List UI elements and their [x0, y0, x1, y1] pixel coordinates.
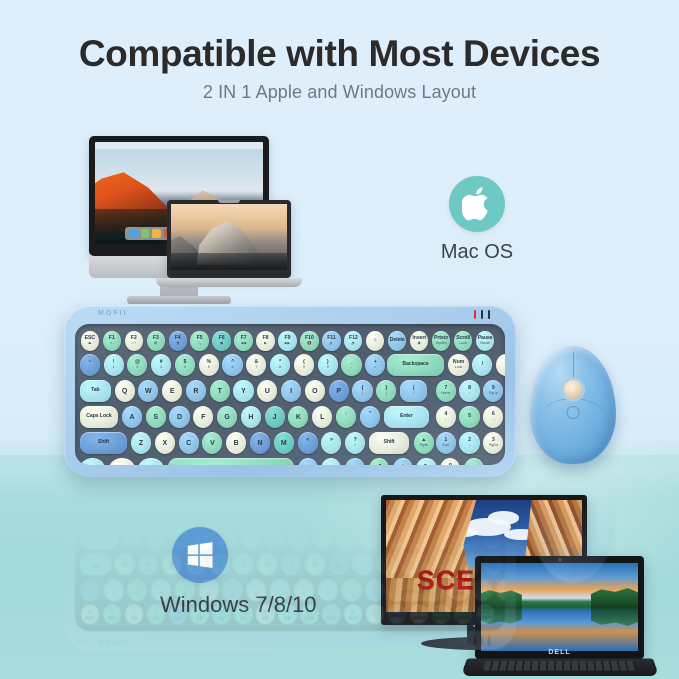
key-sublegend: ◨ — [176, 342, 179, 346]
key-sublegend: 🔊 — [351, 342, 355, 346]
key-space[interactable]: @2 — [127, 354, 147, 376]
key-legend: D — [177, 414, 182, 421]
key-space[interactable]: *8 — [270, 354, 290, 376]
key-v[interactable]: V — [202, 432, 222, 454]
key-space[interactable]: ?/ — [345, 432, 365, 454]
key-j[interactable]: J — [265, 406, 285, 428]
key-enter[interactable]: Enter — [384, 406, 430, 428]
key-f3[interactable]: F3▤ — [147, 331, 165, 351]
key-space[interactable]: }] — [376, 380, 396, 402]
key-r[interactable]: R — [186, 380, 206, 402]
key-legend: 5 — [468, 414, 471, 419]
wireless-keyboard: MOFII ESC⏏F1☼-F2☼+F3▤F4◨F5🔍F6◼F7◀◀F8▶F9▶… — [64, 305, 516, 477]
key-sublegend: \ — [413, 392, 414, 396]
key-legend: H — [248, 414, 253, 421]
key-sublegend: 2 — [136, 366, 138, 370]
key-space[interactable]: += — [365, 354, 385, 376]
key-f12[interactable]: F12🔊 — [344, 331, 362, 351]
key-space[interactable]: !1 — [104, 354, 124, 376]
key-f9[interactable]: F9▶▶ — [278, 331, 296, 351]
key-legend: E — [170, 388, 175, 395]
key-legend: U — [265, 388, 270, 395]
key-sublegend: ▶▶ — [285, 342, 291, 346]
key-legend: ◀ — [377, 464, 381, 465]
key-space[interactable]: ~` — [80, 354, 100, 376]
key-caps-lock[interactable]: Caps Lock — [80, 406, 118, 428]
key-s[interactable]: S — [146, 406, 166, 428]
key-space[interactable] — [168, 458, 294, 465]
key-sublegend: , — [307, 444, 308, 448]
key-sublegend: Lock — [459, 342, 467, 346]
key-legend: P — [336, 388, 341, 395]
key-fn[interactable]: Fn — [321, 458, 341, 465]
key-ctrl[interactable]: Ctrl — [80, 458, 106, 465]
key-9[interactable]: 9PgUp — [483, 380, 503, 402]
key-legend: M — [281, 440, 287, 447]
key-space[interactable]: ⎙ — [366, 331, 384, 351]
windows-icon — [185, 540, 215, 570]
key-legend: G — [224, 414, 229, 421]
key-sublegend: 9 — [303, 366, 305, 370]
wireless-mouse — [530, 346, 616, 464]
key-f7[interactable]: F7◀◀ — [234, 331, 252, 351]
key-space[interactable]: $4 — [175, 354, 195, 376]
key-sublegend: . — [331, 444, 332, 448]
keyboard-led-indicators — [474, 310, 490, 319]
key-sublegend: ' — [369, 418, 370, 422]
key-u[interactable]: U — [257, 380, 277, 402]
key-legend: Caps Lock — [86, 414, 111, 419]
key-f4[interactable]: F4◨ — [169, 331, 187, 351]
laptop-keyboard-deck — [483, 661, 637, 671]
key-4[interactable]: 4← — [436, 406, 456, 428]
key-legend: . — [473, 464, 474, 465]
key-space[interactable]: ▲PgUp — [393, 458, 413, 465]
key-sublegend: ⏏ — [88, 342, 91, 346]
key-space[interactable]: <, — [298, 432, 318, 454]
key-f2[interactable]: F2☼+ — [125, 331, 143, 351]
key-m[interactable]: M — [274, 432, 294, 454]
key-legend: Enter — [400, 414, 413, 419]
key-sublegend: ▣ — [417, 342, 420, 346]
mouse-body — [530, 346, 616, 464]
key-legend: Delete — [390, 338, 405, 343]
macbook-screen — [171, 204, 287, 270]
key-space[interactable]: _- — [341, 354, 361, 376]
key-t[interactable]: T — [210, 380, 230, 402]
key-h[interactable]: H — [241, 406, 261, 428]
key-p[interactable]: P — [329, 380, 349, 402]
windows-badge-circle — [172, 527, 228, 583]
key-space[interactable]: :; — [336, 406, 356, 428]
key-sublegend: / — [355, 444, 356, 448]
key-space[interactable]: >. — [321, 432, 341, 454]
key-sublegend: ; — [346, 418, 347, 422]
key-5[interactable]: 5 — [459, 406, 479, 428]
key-pause[interactable]: PauseBreak — [476, 331, 494, 351]
key-sublegend: ▤ — [154, 342, 157, 346]
key-sublegend: 8 — [279, 366, 281, 370]
key-sublegend: ↓ — [469, 444, 471, 448]
laptop-screen — [481, 563, 638, 651]
key-sublegend: ☼- — [110, 342, 115, 346]
key-space[interactable]: ◀Home — [369, 458, 389, 465]
key-legend: L — [320, 414, 324, 421]
lake-reflection-wallpaper — [481, 563, 638, 651]
key-legend: V — [210, 440, 215, 447]
key-f10[interactable]: F10🔇 — [300, 331, 318, 351]
key-tab[interactable]: Tab — [80, 380, 111, 402]
key-delete[interactable]: Delete — [388, 331, 406, 351]
macbook-lid — [167, 200, 291, 278]
key-space[interactable]: {[ — [352, 380, 372, 402]
key-sublegend: Pgdn — [420, 444, 428, 448]
key-y[interactable]: Y — [233, 380, 253, 402]
key-w[interactable]: W — [138, 380, 158, 402]
key-sublegend: SysRq — [436, 342, 447, 346]
key-f1[interactable]: F1☼- — [103, 331, 121, 351]
led-indicator-2 — [481, 310, 483, 319]
apple-badge-circle — [449, 176, 505, 232]
key-space[interactable]: )0 — [318, 354, 338, 376]
key-prtscr[interactable]: PrtscrSysRq — [432, 331, 450, 351]
key-l[interactable]: L — [312, 406, 332, 428]
key-legend: I — [290, 388, 292, 395]
key-sublegend: 0 — [327, 366, 329, 370]
key-sublegend: 3 — [160, 366, 162, 370]
key-sublegend: ↑ — [469, 392, 471, 396]
keyboard-brand-logo: MOFII — [98, 310, 127, 317]
key-sublegend: Home — [441, 392, 451, 396]
key-shift[interactable]: Shift — [369, 432, 409, 454]
key-sublegend: ⎙ — [374, 339, 377, 343]
page-title: Compatible with Most Devices — [0, 33, 679, 75]
key-sublegend: - — [351, 366, 352, 370]
key-b[interactable]: B — [226, 432, 246, 454]
key-sublegend: → — [492, 418, 496, 422]
key-sublegend: 🔍 — [197, 342, 201, 346]
key-insert[interactable]: Insert▣ — [410, 331, 428, 351]
key-f6[interactable]: F6◼ — [212, 331, 230, 351]
key-sublegend: ◀◀ — [241, 342, 247, 346]
key-space[interactable]: #3 — [151, 354, 171, 376]
key-1[interactable]: 1End — [436, 432, 456, 454]
windows-badge: Windows 7/8/10 — [160, 527, 240, 618]
key-space[interactable]: &7 — [246, 354, 266, 376]
key-legend: / — [482, 362, 483, 367]
key-f8[interactable]: F8▶ — [256, 331, 274, 351]
key-sublegend: 7 — [255, 366, 257, 370]
key-legend: Y — [241, 388, 246, 395]
page-subtitle: 2 IN 1 Apple and Windows Layout — [0, 82, 679, 103]
mac-os-badge: Mac OS — [437, 176, 517, 264]
key-f[interactable]: F — [193, 406, 213, 428]
key-sublegend: ` — [89, 366, 90, 370]
key-shift[interactable]: Shift — [80, 432, 128, 454]
key-space[interactable]: ^6 — [222, 354, 242, 376]
key-legend: Q — [122, 388, 127, 395]
product-infographic: Compatible with Most Devices 2 IN 1 Appl… — [0, 0, 679, 679]
mouse-scroll-wheel — [564, 380, 583, 399]
key-esc[interactable]: ESC⏏ — [81, 331, 99, 351]
key-sublegend: ← — [444, 418, 448, 422]
imac-stand-foot — [127, 296, 231, 304]
key-7[interactable]: 7Home — [436, 380, 456, 402]
key-sublegend: 5 — [208, 366, 210, 370]
key-legend: Backspace — [402, 362, 428, 367]
key-k[interactable]: K — [288, 406, 308, 428]
key-space[interactable]: / — [472, 354, 492, 376]
key-legend: W — [145, 388, 152, 395]
key-ctrl[interactable]: Ctrl — [345, 458, 365, 465]
key-legend: A — [129, 414, 134, 421]
key-sublegend: ▶ — [264, 342, 267, 346]
key-num[interactable]: NumLock — [448, 354, 468, 376]
macbook-camera-notch — [218, 200, 240, 203]
key-sublegend: 🔇 — [307, 342, 311, 346]
key-scroll[interactable]: ScrollLock — [454, 331, 472, 351]
key-6[interactable]: 6→ — [483, 406, 503, 428]
key-sublegend: 6 — [232, 366, 234, 370]
key-space[interactable]: * — [496, 354, 505, 376]
windows-label: Windows 7/8/10 — [160, 592, 240, 618]
key-x[interactable]: X — [155, 432, 175, 454]
key-i[interactable]: I — [281, 380, 301, 402]
key-0[interactable]: 0Ins — [440, 458, 460, 465]
key-sublegend: 🔉 — [329, 342, 333, 346]
key-sublegend: End — [443, 444, 449, 448]
key-win[interactable]: WIN — [109, 458, 135, 465]
key-sublegend: ◼ — [220, 342, 223, 346]
key-legend: X — [162, 440, 167, 447]
key-legend: ▲ — [400, 464, 405, 465]
key-sublegend: 1 — [113, 366, 115, 370]
key-legend: T — [218, 388, 222, 395]
key-alt[interactable]: Alt — [138, 458, 164, 465]
key-legend: O — [312, 388, 317, 395]
key-n[interactable]: N — [250, 432, 270, 454]
key-legend: B — [234, 440, 239, 447]
led-indicator-1 — [474, 310, 476, 319]
key-legend: F — [201, 414, 205, 421]
key-sublegend: ☼+ — [131, 342, 136, 346]
key-alt[interactable]: Alt — [298, 458, 318, 465]
key-backspace[interactable]: Backspace — [387, 354, 444, 376]
key-d[interactable]: D — [169, 406, 189, 428]
key-space[interactable]: "' — [360, 406, 380, 428]
key-space[interactable]: (9 — [294, 354, 314, 376]
key-space[interactable]: |\ — [400, 380, 427, 402]
key-q[interactable]: Q — [115, 380, 135, 402]
key-space[interactable]: .Del — [464, 458, 484, 465]
key-legend: J — [273, 414, 277, 421]
key-legend: S — [153, 414, 158, 421]
yosemite-wallpaper — [171, 204, 287, 270]
key-sublegend: PgDn — [489, 444, 498, 448]
key-a[interactable]: A — [122, 406, 142, 428]
key-sublegend: = — [374, 366, 376, 370]
key-3[interactable]: 3PgDn — [483, 432, 503, 454]
key-sublegend: ] — [386, 392, 387, 396]
laptop-webcam-icon — [558, 558, 562, 562]
key-sublegend: PgUp — [489, 392, 498, 396]
key-z[interactable]: Z — [131, 432, 151, 454]
key-legend: 0 — [449, 464, 452, 465]
mac-os-label: Mac OS — [437, 241, 517, 264]
key-f5[interactable]: F5🔍 — [190, 331, 208, 351]
key-legend: R — [193, 388, 198, 395]
key-legend: Shift — [98, 440, 109, 445]
key-f11[interactable]: F11🔉 — [322, 331, 340, 351]
mouse-dpi-button — [567, 406, 580, 419]
key-sublegend: [ — [362, 392, 363, 396]
key-o[interactable]: O — [305, 380, 325, 402]
keyboard-plate: ESC⏏F1☼-F2☼+F3▤F4◨F5🔍F6◼F7◀◀F8▶F9▶▶F10🔇F… — [75, 324, 505, 465]
macbook-base — [156, 278, 302, 287]
key-legend: ▶ — [425, 464, 429, 465]
key-legend: N — [257, 440, 262, 447]
key-c[interactable]: C — [179, 432, 199, 454]
key-space[interactable]: ▶End — [416, 458, 436, 465]
key-legend: Shift — [383, 440, 394, 445]
key-g[interactable]: G — [217, 406, 237, 428]
key-2[interactable]: 2↓ — [459, 432, 479, 454]
dell-laptop-base — [461, 658, 659, 676]
key-legend: C — [186, 440, 191, 447]
key-e[interactable]: E — [162, 380, 182, 402]
key-sublegend: Break — [480, 342, 489, 346]
key-legend: Tab — [91, 388, 100, 393]
dell-brand-text: DELL — [475, 649, 644, 656]
apple-icon — [462, 187, 492, 221]
dell-laptop-lid: DELL — [475, 556, 644, 659]
key-8[interactable]: 8↑ — [459, 380, 479, 402]
key-sublegend: 4 — [184, 366, 186, 370]
key-sublegend: Lock — [455, 366, 463, 370]
led-indicator-3 — [488, 310, 490, 319]
key-space[interactable]: ▲Pgdn — [414, 432, 434, 454]
key-legend: Z — [139, 440, 143, 447]
key-space[interactable]: %5 — [199, 354, 219, 376]
key-legend: K — [296, 414, 301, 421]
